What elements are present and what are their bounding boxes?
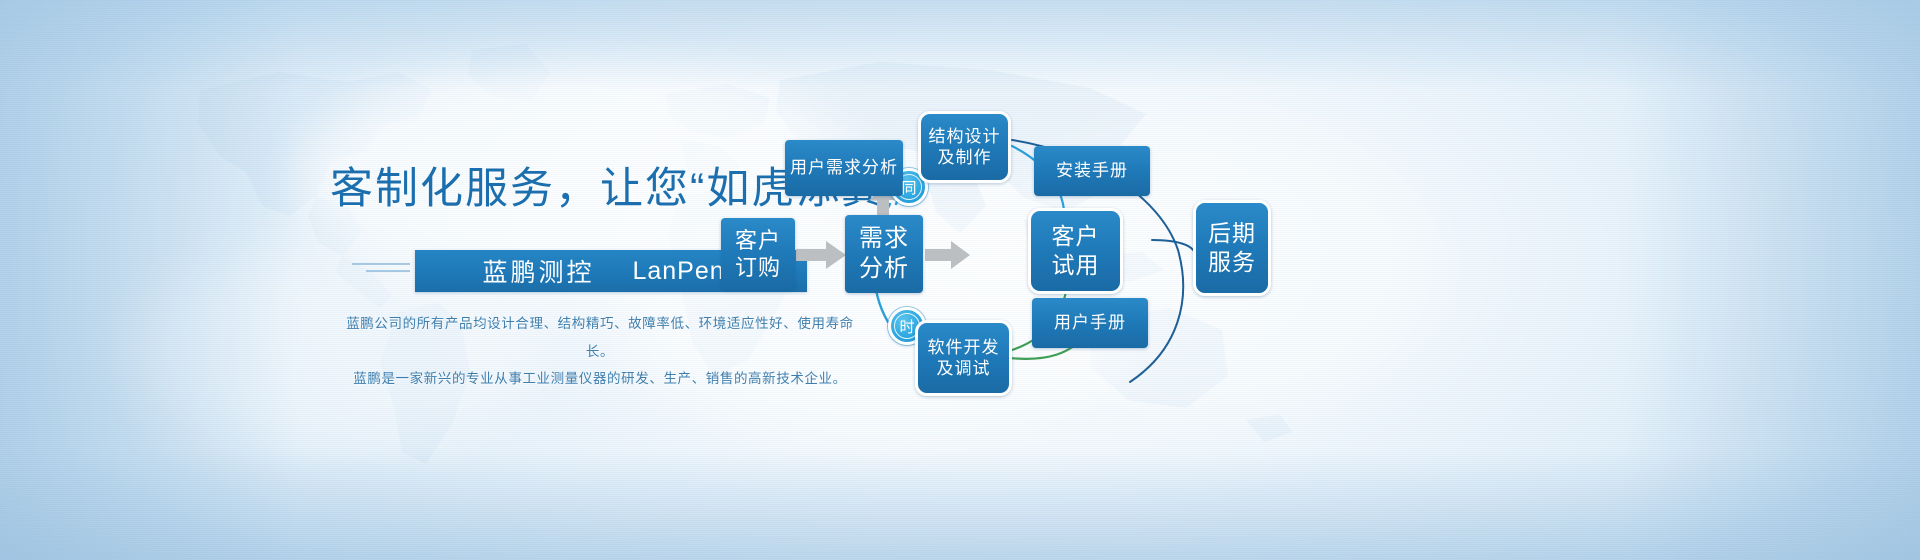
process-flow-diagram: 同 时 用户需求分析 客户 订购 需求 分析 结构设计 及制作 软件开发 及调试… [860,100,1920,430]
brand-name-cn: 蓝鹏测控 [482,253,594,289]
node-customer-trial-line2: 试用 [1052,251,1100,280]
node-requirement-analysis[interactable]: 需求 分析 [845,215,923,293]
vignette-left [0,0,300,560]
node-after-service-line2: 服务 [1208,248,1256,277]
node-user-requirement-label: 用户需求分析 [790,157,898,178]
node-user-manual-label: 用户手册 [1054,312,1126,333]
arrow-order-to-analysis [796,240,848,270]
vignette-top [0,0,1920,90]
node-customer-order[interactable]: 客户 订购 [721,218,795,290]
node-customer-order-line2: 订购 [735,254,781,282]
node-customer-order-line1: 客户 [735,227,781,255]
node-requirement-analysis-line1: 需求 [859,224,909,254]
banner-root: 客制化服务，让您“如虎添翼” 蓝鹏测控 LanPeng 蓝鹏公司的所有产品均设计… [0,0,1920,560]
description-line-1: 蓝鹏公司的所有产品均设计合理、结构精巧、故障率低、环境适应性好、使用寿命长。 [346,316,854,359]
decorative-lines [352,263,414,279]
description-line-2: 蓝鹏是一家新兴的专业从事工业测量仪器的研发、生产、销售的高新技术企业。 [340,365,860,393]
node-after-service[interactable]: 后期 服务 [1193,200,1271,296]
node-software-development-line2: 及调试 [937,358,991,379]
banner-description: 蓝鹏公司的所有产品均设计合理、结构精巧、故障率低、环境适应性好、使用寿命长。 蓝… [340,310,860,393]
node-customer-trial-line1: 客户 [1052,222,1100,251]
node-install-manual[interactable]: 安装手册 [1034,146,1150,196]
node-customer-trial[interactable]: 客户 试用 [1028,208,1123,294]
arrow-analysis-to-cycle [925,240,971,270]
node-structure-design[interactable]: 结构设计 及制作 [918,111,1011,183]
node-requirement-analysis-line2: 分析 [859,254,909,284]
badge-tong-label: 同 [901,177,916,198]
node-user-manual[interactable]: 用户手册 [1032,298,1148,348]
node-user-requirement[interactable]: 用户需求分析 [785,140,903,196]
node-install-manual-label: 安装手册 [1056,160,1128,181]
node-structure-design-line1: 结构设计 [929,126,1001,147]
node-software-development-line1: 软件开发 [928,337,1000,358]
flow-connector-lines [860,100,1920,430]
node-structure-design-line2: 及制作 [938,147,992,168]
node-software-development[interactable]: 软件开发 及调试 [915,320,1012,396]
node-after-service-line1: 后期 [1208,219,1256,248]
badge-shi-label: 时 [899,316,914,337]
link-to-after-service [1152,240,1193,250]
vignette-bottom [0,450,1920,560]
